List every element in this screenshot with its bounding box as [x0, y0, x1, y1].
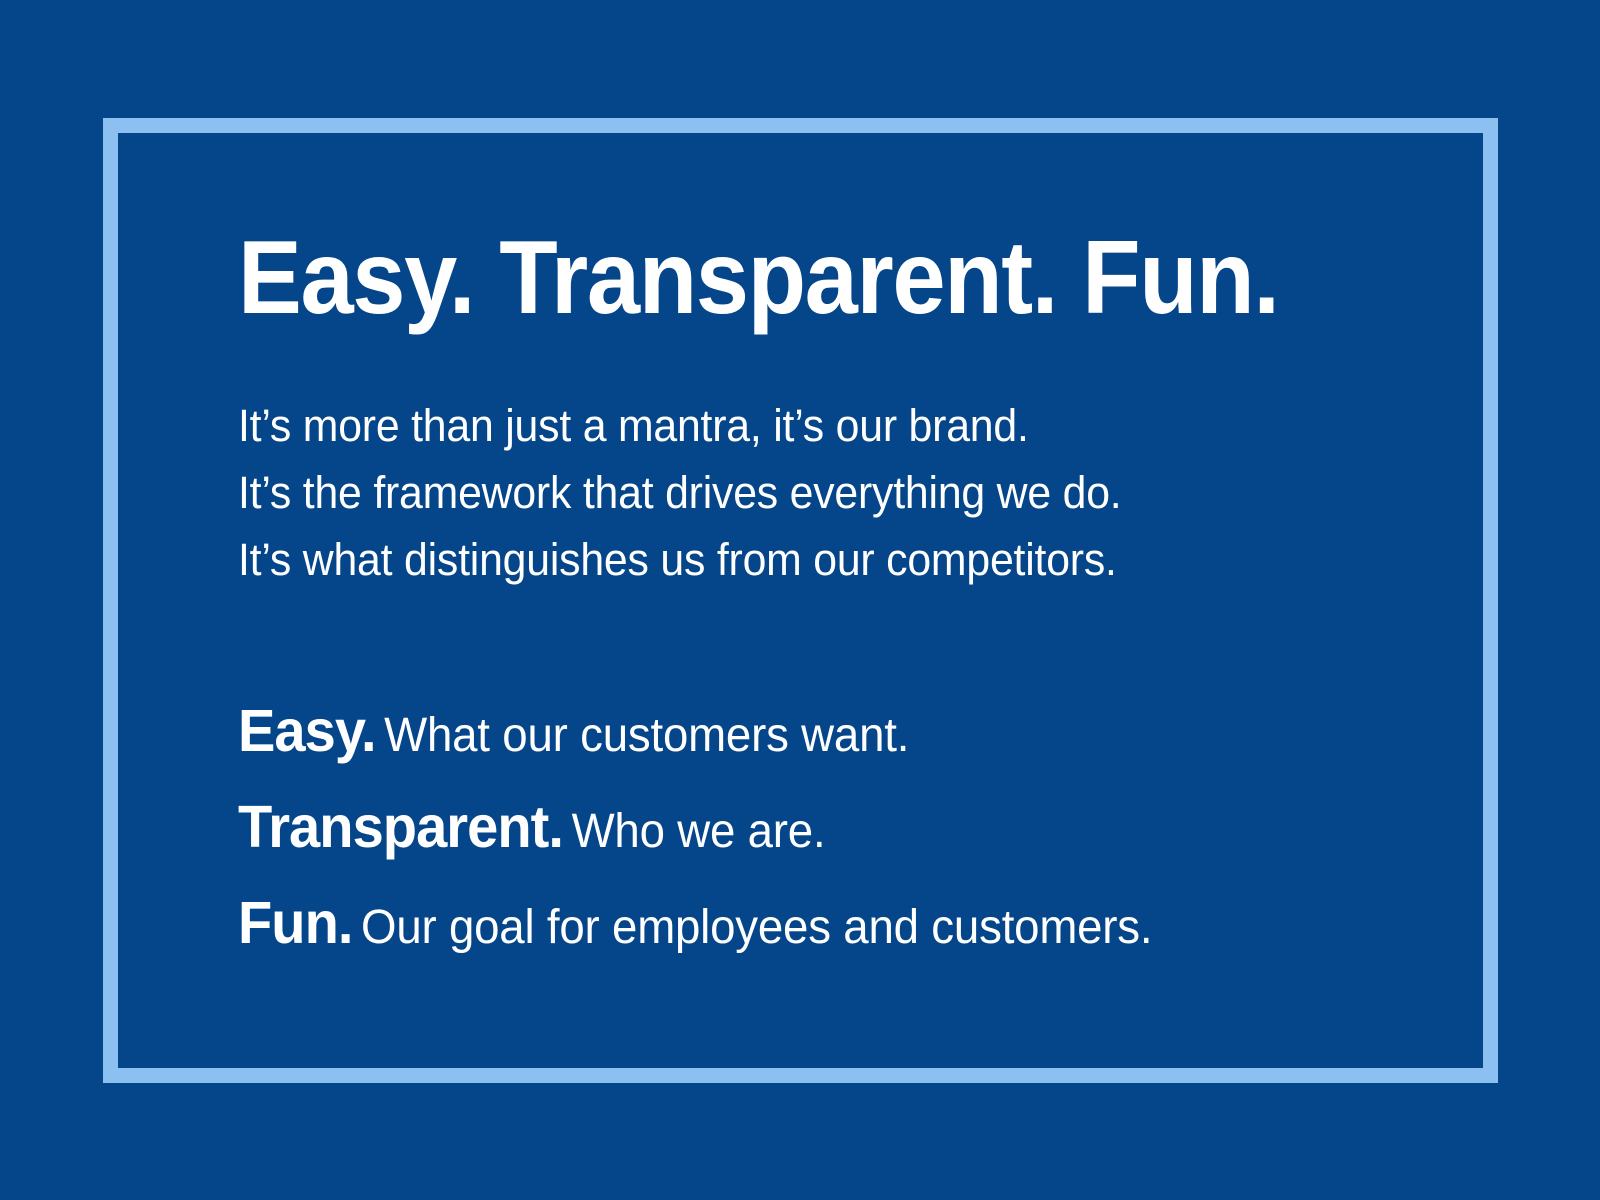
definition-description-fun: Our goal for employees and customers. [361, 901, 1152, 954]
slide-canvas: Easy. Transparent. Fun. It’s more than j… [0, 0, 1600, 1200]
definition-item-easy: Easy.What our customers want. [238, 691, 1359, 787]
definition-item-transparent: Transparent.Who we are. [238, 787, 1359, 883]
definition-description-transparent: Who we are. [572, 805, 826, 858]
page-title: Easy. Transparent. Fun. [238, 222, 1324, 334]
slide-content: Easy. Transparent. Fun. It’s more than j… [238, 222, 1418, 979]
intro-line-1: It’s more than just a mantra, it’s our b… [238, 392, 1359, 459]
definition-term-easy: Easy. [238, 698, 376, 764]
definition-item-fun: Fun.Our goal for employees and customers… [238, 883, 1359, 979]
definition-term-fun: Fun. [238, 890, 352, 956]
definition-term-transparent: Transparent. [238, 794, 563, 860]
intro-line-3: It’s what distinguishes us from our comp… [238, 526, 1359, 593]
definitions-list: Easy.What our customers want. Transparen… [238, 691, 1359, 979]
intro-paragraph: It’s more than just a mantra, it’s our b… [238, 392, 1359, 593]
intro-line-2: It’s the framework that drives everythin… [238, 459, 1359, 526]
definition-description-easy: What our customers want. [384, 709, 909, 762]
